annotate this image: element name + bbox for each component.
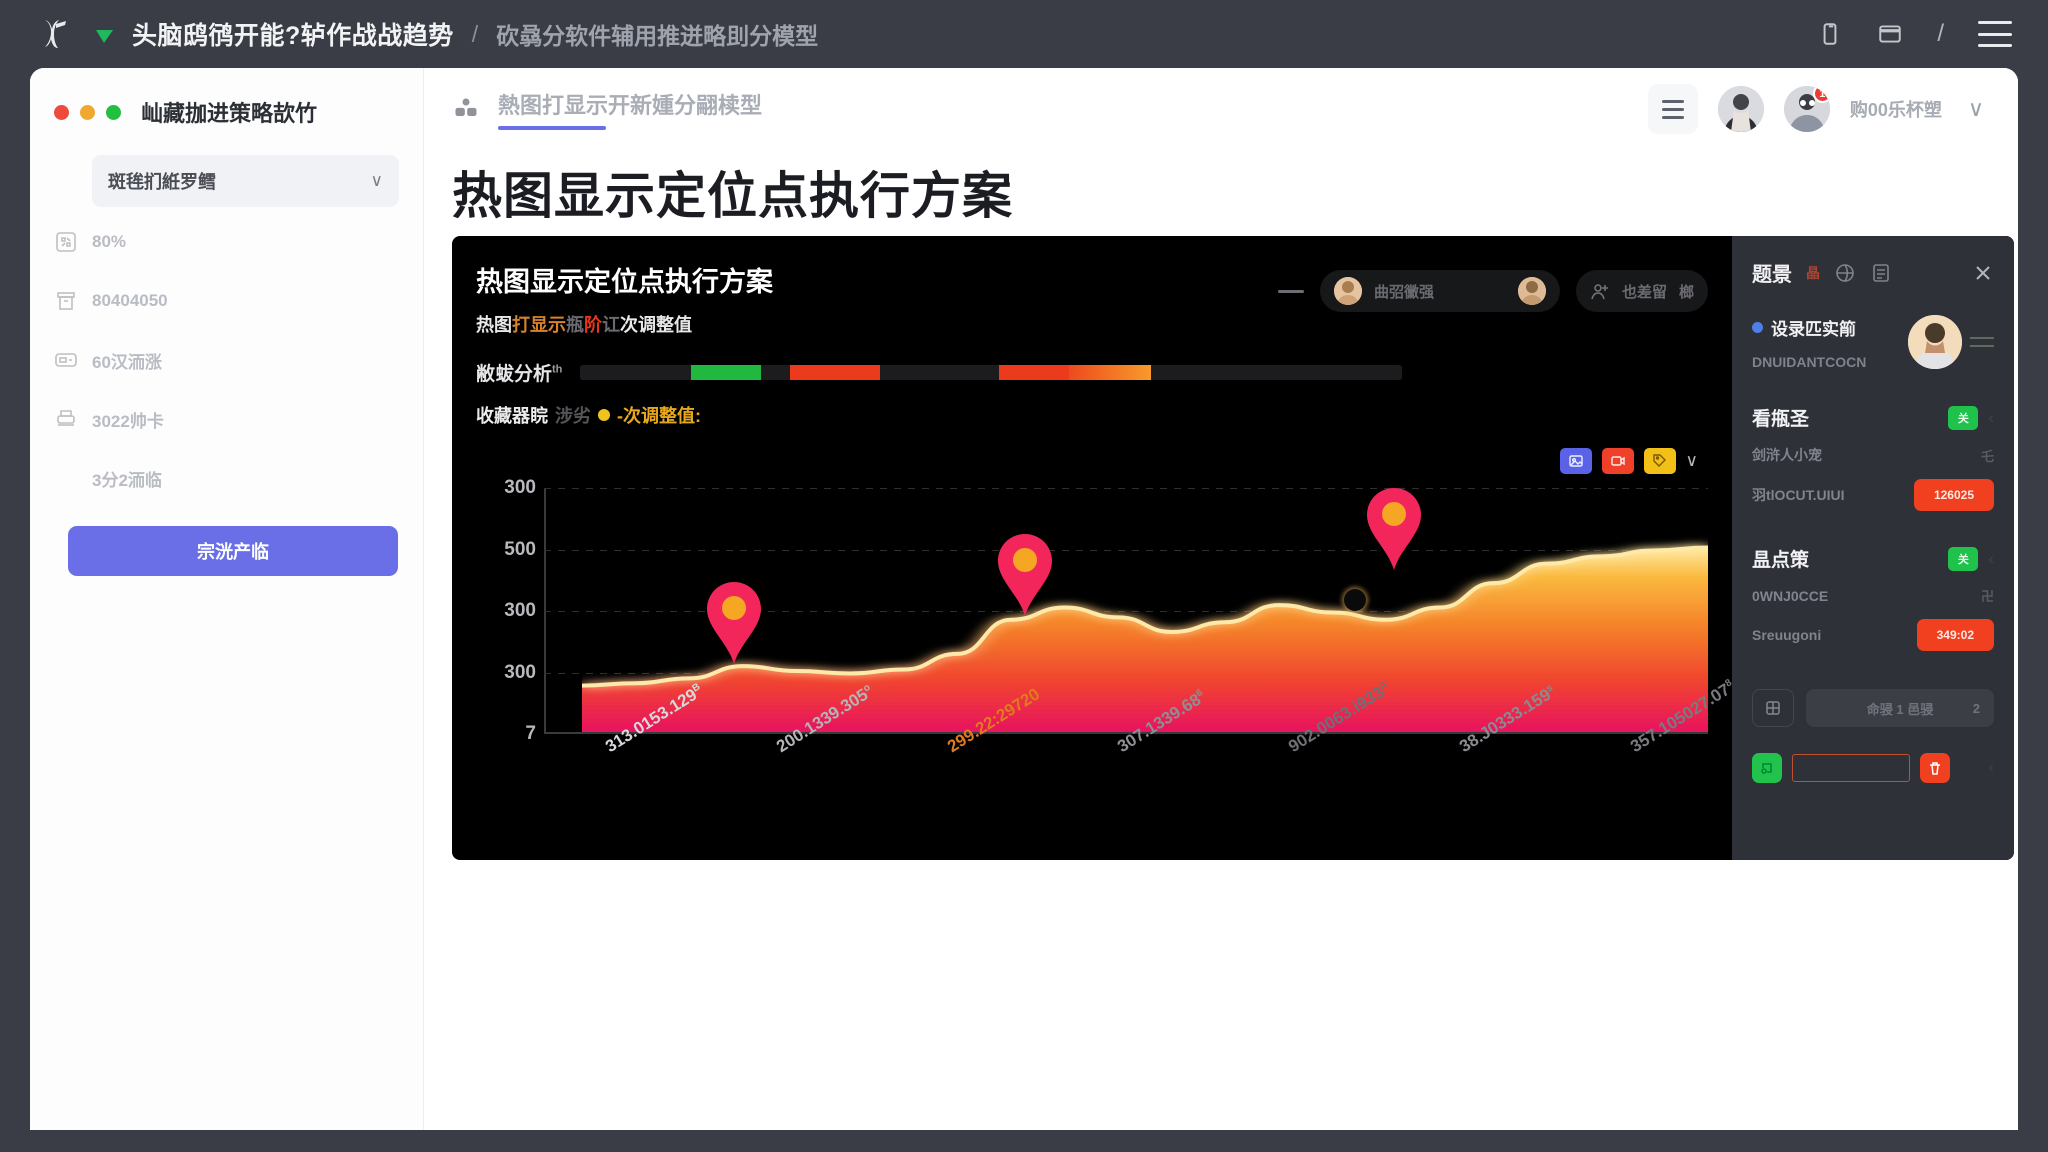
page-title: 热图显示定位点执行方案: [424, 150, 2018, 228]
legend-part-0: 收藏器睆: [476, 402, 548, 428]
close-traffic-light[interactable]: [54, 105, 69, 120]
rail-section-0-row-0: 剑浒人小宠 乇: [1752, 445, 1994, 465]
chart-toolbar: ∨: [1560, 448, 1698, 474]
chart-tool-yellow[interactable]: [1644, 448, 1676, 474]
sidebar-item-4-label: 3分2洏临: [92, 466, 162, 491]
pin-3[interactable]: [1361, 486, 1427, 572]
maximize-traffic-light[interactable]: [106, 105, 121, 120]
segment-red: [790, 365, 880, 380]
minimize-dash-icon[interactable]: [1278, 290, 1304, 293]
rail-entry-right: [1908, 315, 1994, 369]
breadcrumb-label: 熱图打显示开新媑分翤椟型: [498, 93, 762, 118]
heatmap-chart: ∨ 3005003003007: [476, 448, 1708, 846]
sidebar: 屾藏拁进策略欯竹 斑毪扪絍罗鳕 ∨ 80% 80404050: [30, 68, 424, 1130]
avatar-3: [1334, 277, 1362, 305]
segment-sup: th: [552, 364, 562, 376]
rail-row-action-button[interactable]: 349:02: [1917, 619, 1994, 651]
rail-entry-title-row: 设录匹实箾: [1752, 315, 1866, 340]
panel-title: 热图显示定位点执行方案: [476, 260, 773, 299]
slash-icon: /: [1937, 20, 1944, 48]
rail-section-1-row-0: 0WNJ0CCE 卍: [1752, 586, 1994, 605]
rail-section-0-title: 看甁圣: [1752, 404, 1809, 431]
y-tick-3: 300: [504, 662, 536, 684]
panel-main: 热图显示定位点执行方案 热图打显示瓶阶讧次调整值 曲弨黴强: [452, 236, 1732, 860]
chevron-down-icon[interactable]: ∨: [1962, 96, 1984, 122]
rail-section-1-badge[interactable]: 关: [1948, 547, 1978, 571]
avatar-4: [1518, 277, 1546, 305]
rail-entry[interactable]: 设录匹实箾 DNUIDANTCOCN: [1752, 315, 1994, 370]
window-controls: 屾藏拁进策略欯竹: [54, 96, 399, 128]
rail-green-button[interactable]: [1752, 753, 1782, 783]
card-icon: [54, 348, 92, 372]
pin-2[interactable]: [992, 532, 1058, 618]
rail-section-0-header: 看甁圣 关 ‹: [1752, 404, 1994, 431]
segment-red-2: [999, 365, 1069, 380]
chevron-left-icon[interactable]: ‹: [1989, 759, 1994, 777]
notification-badge: 1: [1813, 86, 1830, 103]
user-add-icon: [1590, 281, 1610, 301]
grid-icon[interactable]: [1752, 689, 1794, 727]
sidebar-dropdown-label: 斑毪扪絍罗鳕: [108, 168, 216, 194]
rail-row-action-button[interactable]: 126025: [1914, 479, 1994, 511]
breadcrumb[interactable]: 熱图打显示开新媑分翤椟型: [498, 88, 762, 130]
rail-entry-meta-lines: [1970, 337, 1994, 347]
segment-empty-3: [880, 365, 999, 380]
panel-subtitle: 热图打显示瓶阶讧次调整值: [476, 311, 773, 337]
mobile-icon[interactable]: [1817, 21, 1843, 47]
rail-row-key: 羽tlOCUT.UIUI: [1752, 485, 1845, 505]
rail-badge: 晶: [1806, 263, 1820, 283]
user-name: 购00乐杯塑: [1850, 96, 1942, 122]
sidebar-item-3[interactable]: 3022帅卡: [54, 395, 399, 443]
brand-logo-icon: [34, 14, 74, 54]
os-subtitle: 砍骉分软件辅用推迸略刞分模型: [496, 17, 818, 51]
rail-search-placeholder: 命骎 1 邑骎: [1867, 699, 1933, 718]
rail-header: 题景 晶: [1752, 258, 1994, 287]
rail-section-0-row-1: 羽tlOCUT.UIUI 126025: [1752, 479, 1994, 511]
panel-subtitle-part-5: 讧: [602, 315, 620, 335]
segment-empty-4: [1151, 365, 1402, 380]
avatar-5[interactable]: [1908, 315, 1962, 369]
segment-row: 敝蛂分析th: [452, 337, 1732, 386]
header-menu-button[interactable]: [1648, 84, 1698, 134]
chevron-down-icon: ∨: [371, 171, 383, 191]
rail-entry-text: 设录匹实箾 DNUIDANTCOCN: [1752, 315, 1866, 370]
archive-icon: [54, 289, 92, 313]
header-actions: 1 购00乐杯塑 ∨: [1648, 84, 1984, 134]
rail-row-key: 0WNJ0CCE: [1752, 588, 1828, 604]
rail-entry-sub: DNUIDANTCOCN: [1752, 354, 1866, 370]
rail-search-input[interactable]: 命骎 1 邑骎 2: [1806, 689, 1994, 727]
panel-action-pill-label: 也差留: [1622, 281, 1667, 302]
rail-button-row: ‹: [1752, 753, 1994, 783]
sidebar-item-1[interactable]: 80404050: [54, 277, 399, 325]
os-title-separator: /: [472, 21, 478, 48]
status-dot-icon: [1752, 322, 1763, 333]
x-axis-labels: 313.0153.129B200.1339.305o299.22:2972030…: [544, 734, 1708, 846]
chevron-left-icon[interactable]: ‹: [1988, 549, 1994, 569]
window-icon[interactable]: [1877, 21, 1903, 47]
rail-red-button[interactable]: [1920, 753, 1950, 783]
panel-top: 热图显示定位点执行方案 热图打显示瓶阶讧次调整值 曲弨黴强: [452, 236, 1732, 337]
rail-entry-title: 设录匹实箾: [1771, 315, 1856, 340]
presence-pill[interactable]: 曲弨黴强: [1320, 270, 1560, 312]
print-icon: [54, 407, 92, 431]
rail-row-value: 乇: [1981, 446, 1994, 465]
y-tick-4: 7: [525, 723, 536, 745]
sidebar-item-2[interactable]: 60汉洏涨: [54, 336, 399, 384]
panel-subtitle-part-2: 显示: [530, 315, 566, 335]
presence-pill-label: 曲弨黴强: [1374, 281, 1434, 302]
avatar-2[interactable]: 1: [1784, 86, 1830, 132]
legend-dot-icon: [598, 409, 610, 421]
rail-section-1: 昷点策 关 ‹ 0WNJ0CCE 卍 Sreuugoni 3: [1752, 545, 1994, 651]
segment-bar[interactable]: [580, 365, 1402, 380]
panel-subtitle-part-4: 阶: [584, 315, 602, 335]
panel-right-rail: 题景 晶: [1732, 236, 2014, 860]
sidebar-item-0[interactable]: 80%: [54, 218, 399, 266]
sidebar-item-2-label: 60汉洏涨: [92, 348, 162, 373]
main-content: 熱图打显示开新媑分翤椟型 1 购00乐杯塑 ∨ 热图显示定位点执行方案: [424, 68, 2018, 1130]
segment-empty-2: [761, 365, 790, 380]
sidebar-item-3-label: 3022帅卡: [92, 407, 164, 432]
app-window: 屾藏拁进策略欯竹 斑毪扪絍罗鳕 ∨ 80% 80404050: [30, 68, 2018, 1130]
rail-row-value: 卍: [1981, 586, 1994, 605]
sidebar-primary-button[interactable]: 宗洸产临: [68, 526, 398, 576]
os-title: 头脑鸱鸻开能?轳作战战趋势: [132, 16, 454, 52]
panel-subtitle-part-1: 打: [512, 315, 530, 335]
close-icon[interactable]: [1972, 262, 1994, 284]
panel-toolbar: 曲弨黴强 也差留 榔: [1278, 260, 1732, 312]
panel-subtitle-part-3: 瓶: [566, 315, 584, 335]
cube-user-icon: [452, 95, 480, 123]
rail-title: 题景: [1752, 258, 1792, 287]
rail-section-1-row-1: Sreuugoni 349:02: [1752, 619, 1994, 651]
panel-action-pill-meta: 榔: [1679, 281, 1694, 302]
pin-1[interactable]: [701, 580, 767, 666]
rail-section-0: 看甁圣 关 ‹ 剑浒人小宠 乇 羽tlOCUT.UIUI 1: [1752, 404, 1994, 511]
black-dot[interactable]: [1344, 589, 1366, 611]
sidebar-item-4[interactable]: 3分2洏临: [54, 454, 399, 502]
os-title-bar: 头脑鸱鸻开能?轳作战战趋势 / 砍骉分软件辅用推迸略刞分模型 /: [0, 0, 2048, 68]
y-tick-1: 500: [504, 539, 536, 561]
rail-row-key: Sreuugoni: [1752, 627, 1821, 643]
segment-empty-1: [580, 365, 691, 380]
rail-section-0-badge[interactable]: 关: [1948, 406, 1978, 430]
rail-search-count: 2: [1973, 701, 1980, 716]
legend-dot-label: -次调整值:: [617, 402, 701, 428]
dashboard-panel: 热图显示定位点执行方案 热图打显示瓶阶讧次调整值 曲弨黴强: [452, 236, 2014, 860]
avatar-1[interactable]: [1718, 86, 1764, 132]
rail-section-1-title: 昷点策: [1752, 545, 1809, 572]
green-check-icon: [92, 21, 118, 47]
app-root: 头脑鸱鸻开能?轳作战战趋势 / 砍骉分软件辅用推迸略刞分模型 /: [0, 0, 2048, 1152]
panel-subtitle-part-6: 次调整值: [620, 315, 692, 335]
main-header: 熱图打显示开新媑分翤椟型 1 购00乐杯塑 ∨: [424, 68, 2018, 150]
segment-orange: [1069, 365, 1151, 380]
sidebar-item-1-label: 80404050: [92, 291, 168, 311]
sidebar-item-0-label: 80%: [92, 232, 126, 252]
chart-tool-blue[interactable]: [1560, 448, 1592, 474]
globe-icon[interactable]: [1834, 262, 1856, 284]
y-tick-2: 300: [504, 600, 536, 622]
rail-search-row: 命骎 1 邑骎 2: [1752, 689, 1994, 727]
minimize-traffic-light[interactable]: [80, 105, 95, 120]
legend-part-1: 涉劣: [555, 402, 591, 428]
chevron-left-icon[interactable]: ‹: [1988, 408, 1994, 428]
panel-titles: 热图显示定位点执行方案 热图打显示瓶阶讧次调整值: [476, 260, 773, 337]
sidebar-window-title: 屾藏拁进策略欯竹: [141, 96, 317, 128]
segment-label: 敝蛂分析th: [476, 359, 562, 386]
breadcrumb-underline: [498, 126, 606, 130]
rail-outline-box[interactable]: [1792, 754, 1910, 782]
hamburger-icon[interactable]: [1978, 21, 2012, 47]
segment-green: [691, 365, 761, 380]
rail-section-1-header: 昷点策 关 ‹: [1752, 545, 1994, 572]
y-tick-0: 300: [504, 477, 536, 499]
rail-row-key: 剑浒人小宠: [1752, 445, 1822, 465]
chart-toolbar-chevron[interactable]: ∨: [1686, 451, 1698, 471]
os-toolbar: /: [1817, 20, 2024, 48]
chart-tool-red[interactable]: [1602, 448, 1634, 474]
panel-action-pill[interactable]: 也差留 榔: [1576, 270, 1708, 312]
qr-grid-icon: [54, 230, 92, 254]
sidebar-dropdown[interactable]: 斑毪扪絍罗鳕 ∨: [92, 155, 399, 207]
y-axis-labels: 3005003003007: [476, 488, 544, 734]
panel-subtitle-part-0: 热图: [476, 315, 512, 335]
panel-legend: 收藏器睆 涉劣 -次调整值:: [452, 386, 1732, 428]
list-icon[interactable]: [1870, 262, 1892, 284]
